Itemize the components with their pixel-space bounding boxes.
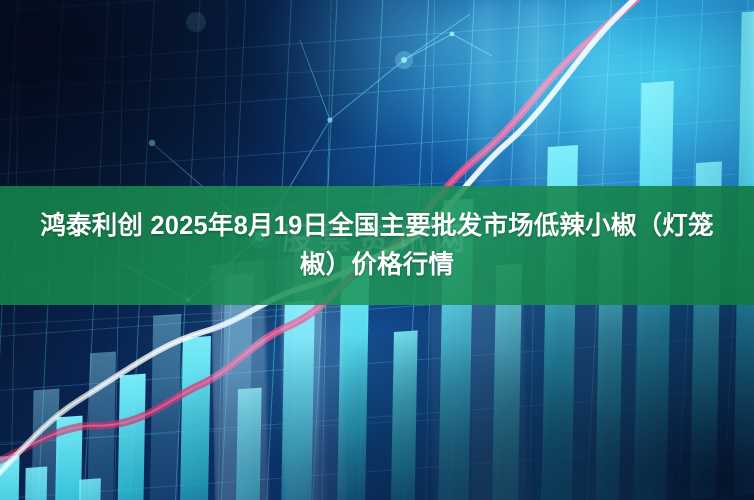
- title-band: 股票资讯网 鸿泰利创 2025年8月19日全国主要批发市场低辣小椒（灯笼椒）价格…: [0, 186, 754, 305]
- page-title: 鸿泰利创 2025年8月19日全国主要批发市场低辣小椒（灯笼椒）价格行情: [27, 207, 727, 285]
- banner-image: 股票资讯网 鸿泰利创 2025年8月19日全国主要批发市场低辣小椒（灯笼椒）价格…: [0, 0, 754, 500]
